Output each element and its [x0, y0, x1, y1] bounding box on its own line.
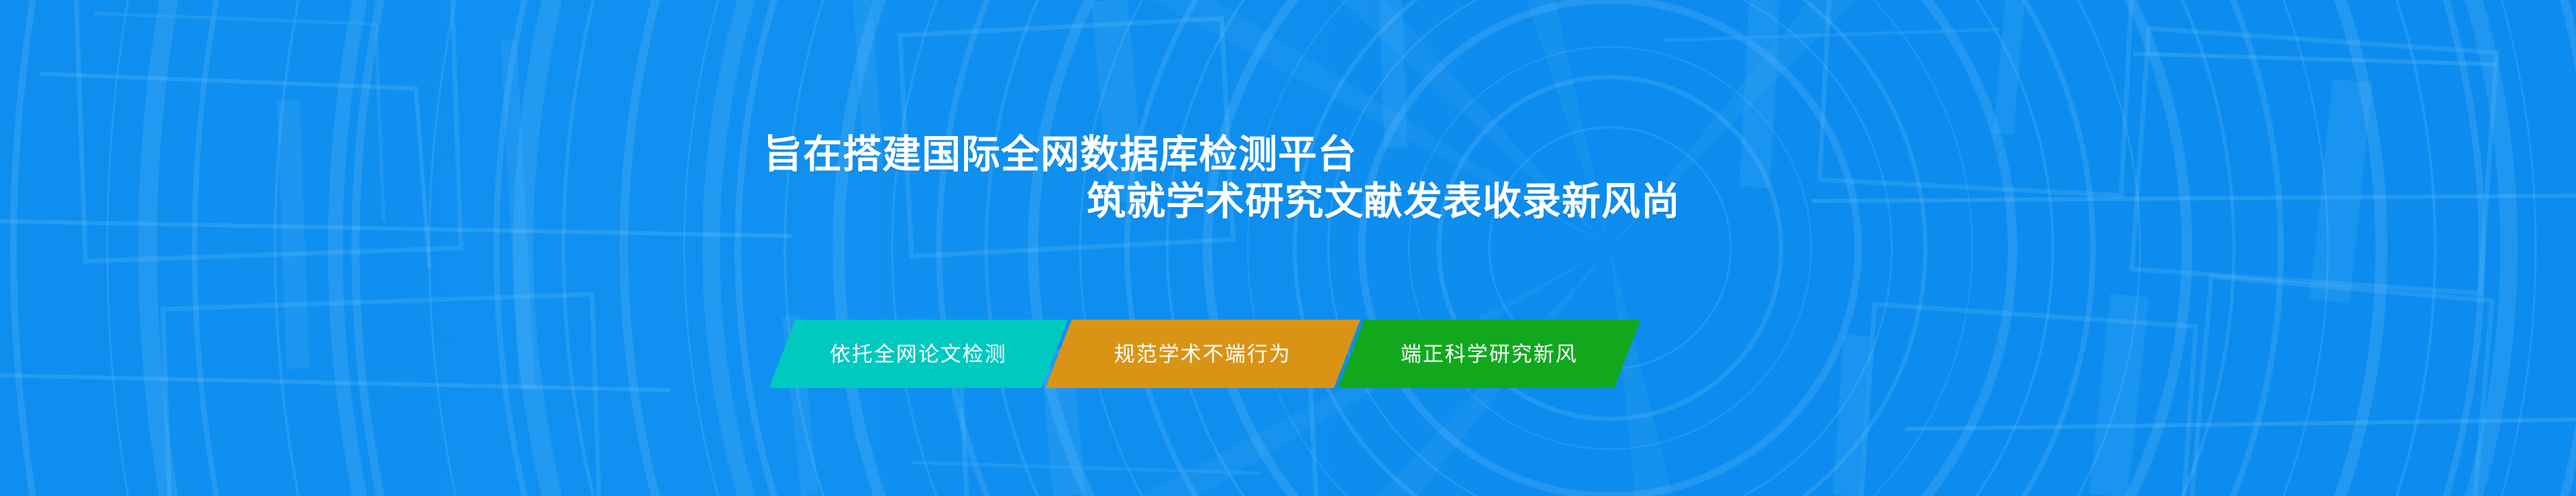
feature-tag-label: 依托全网论文检测 — [826, 344, 1011, 365]
feature-tag-plagiarism-detection[interactable]: 依托全网论文检测 — [769, 320, 1067, 388]
feature-tag-label: 端正科学研究新风 — [1397, 344, 1582, 365]
promo-banner: 旨在搭建国际全网数据库检测平台 筑就学术研究文献发表收录新风尚 依托全网论文检测… — [0, 0, 2576, 496]
background-decoration — [0, 0, 2576, 496]
background-pattern-svg — [0, 0, 2576, 496]
headline-line-1: 旨在搭建国际全网数据库检测平台 — [758, 131, 1831, 178]
headline-block: 旨在搭建国际全网数据库检测平台 筑就学术研究文献发表收录新风尚 — [758, 131, 1831, 225]
feature-tag-academic-misconduct[interactable]: 规范学术不端行为 — [1045, 320, 1360, 388]
feature-tag-strip: 依托全网论文检测 规范学术不端行为 端正科学研究新风 — [782, 320, 1627, 388]
headline-line-2: 筑就学术研究文献发表收录新风尚 — [758, 178, 1831, 225]
feature-tag-label: 规范学术不端行为 — [1110, 344, 1295, 365]
feature-tag-research-ethics[interactable]: 端正科学研究新风 — [1338, 320, 1640, 388]
